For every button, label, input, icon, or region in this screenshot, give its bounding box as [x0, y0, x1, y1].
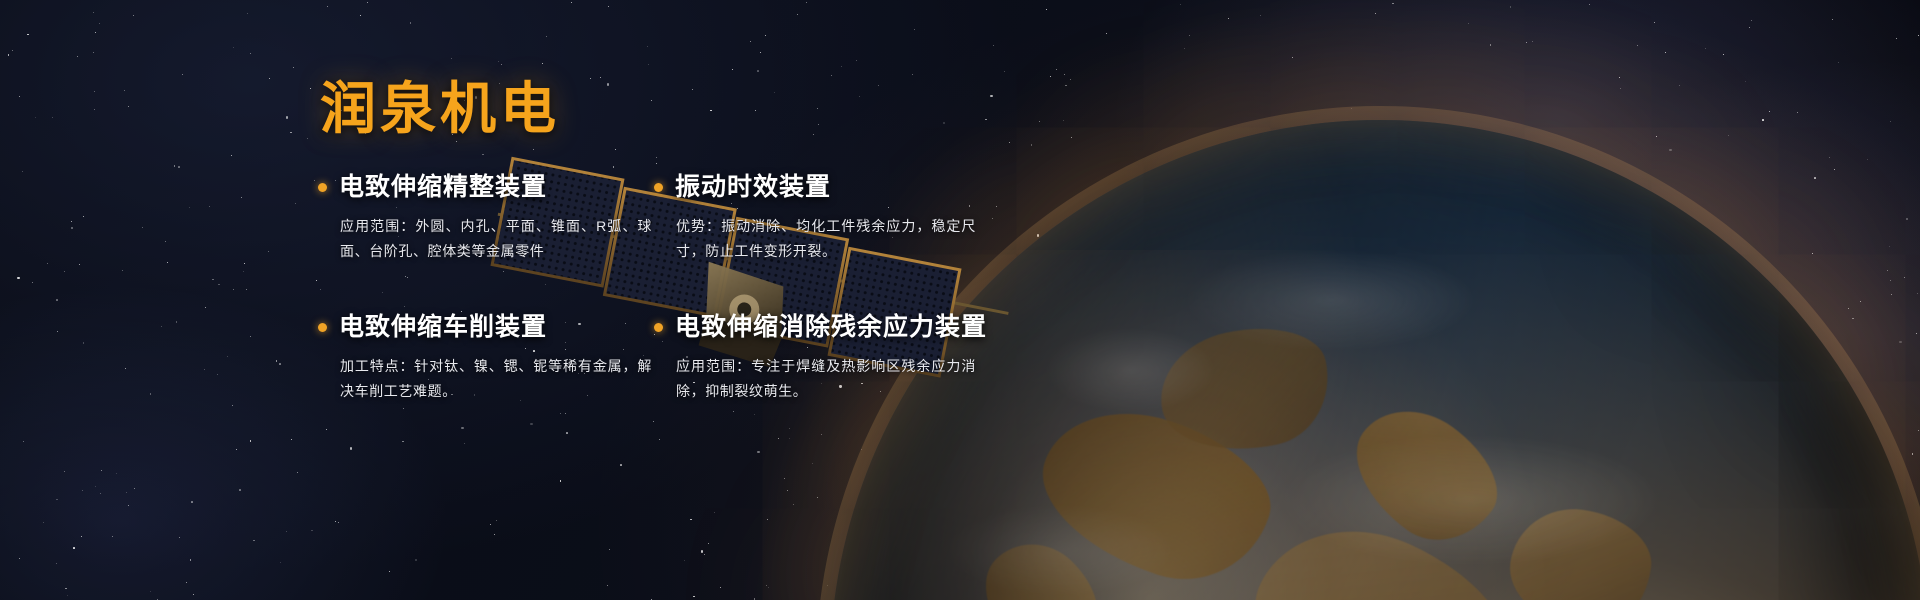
feature-heading: 电致伸缩精整装置	[318, 172, 648, 202]
feature-title: 振动时效装置	[675, 172, 831, 202]
bullet-dot-icon	[654, 183, 663, 192]
hero-banner: 润泉机电 电致伸缩精整装置 应用范围：外圆、内孔、平面、锥面、R弧、球面、台阶孔…	[0, 0, 1920, 600]
bullet-dot-icon	[318, 323, 327, 332]
feature-description: 优势：振动消除、均化工件残余应力，稳定尺寸，防止工件变形开裂。	[676, 214, 976, 264]
feature-item-electrostrictive-turning[interactable]: 电致伸缩车削装置 加工特点：针对钛、镍、锶、铌等稀有金属，解决车削工艺难题。	[318, 312, 648, 404]
page-title: 润泉机电	[320, 78, 560, 140]
feature-item-residual-stress-relief[interactable]: 电致伸缩消除残余应力装置 应用范围：专注于焊缝及热影响区残余应力消除，抑制裂纹萌…	[654, 312, 984, 404]
feature-title: 电致伸缩精整装置	[339, 172, 547, 202]
feature-column-left: 电致伸缩精整装置 应用范围：外圆、内孔、平面、锥面、R弧、球面、台阶孔、腔体类等…	[318, 172, 648, 404]
bullet-dot-icon	[654, 323, 663, 332]
feature-description: 应用范围：外圆、内孔、平面、锥面、R弧、球面、台阶孔、腔体类等金属零件	[340, 214, 652, 264]
feature-description: 加工特点：针对钛、镍、锶、铌等稀有金属，解决车削工艺难题。	[340, 354, 652, 404]
feature-heading: 振动时效装置	[654, 172, 984, 202]
feature-heading: 电致伸缩消除残余应力装置	[654, 312, 984, 342]
hero-content: 润泉机电 电致伸缩精整装置 应用范围：外圆、内孔、平面、锥面、R弧、球面、台阶孔…	[0, 0, 1920, 600]
bullet-dot-icon	[318, 183, 327, 192]
feature-description: 应用范围：专注于焊缝及热影响区残余应力消除，抑制裂纹萌生。	[676, 354, 976, 404]
feature-title: 电致伸缩车削装置	[339, 312, 547, 342]
feature-item-electrostrictive-finishing[interactable]: 电致伸缩精整装置 应用范围：外圆、内孔、平面、锥面、R弧、球面、台阶孔、腔体类等…	[318, 172, 648, 264]
feature-title: 电致伸缩消除残余应力装置	[675, 312, 987, 342]
feature-item-vibratory-aging[interactable]: 振动时效装置 优势：振动消除、均化工件残余应力，稳定尺寸，防止工件变形开裂。	[654, 172, 984, 264]
feature-heading: 电致伸缩车削装置	[318, 312, 648, 342]
feature-column-right: 振动时效装置 优势：振动消除、均化工件残余应力，稳定尺寸，防止工件变形开裂。 电…	[654, 172, 984, 404]
